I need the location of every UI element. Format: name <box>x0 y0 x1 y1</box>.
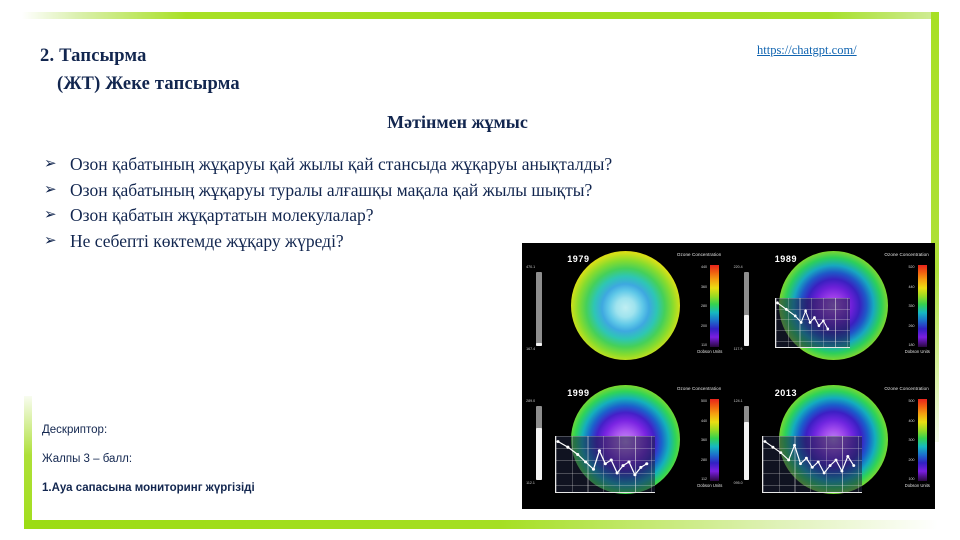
bullet-arrow-icon: ➢ <box>44 203 57 229</box>
year-slider[interactable] <box>536 272 541 346</box>
section-heading: Мәтінмен жұмыс <box>0 112 915 133</box>
panel-year-label: 1979 <box>567 254 589 264</box>
colorbar-tick: 200 <box>908 458 914 462</box>
question-text: Озон қабатын жұқартатын молекулалар? <box>70 205 374 225</box>
page-title-line-2: (ЖТ) Жеке тапсырма <box>57 74 240 95</box>
colorbar-tick: 280 <box>701 458 707 462</box>
colorbar-tick: 200 <box>701 324 707 328</box>
year-slider[interactable] <box>744 406 749 480</box>
slider-max-label: 470.1 <box>526 265 535 269</box>
inset-series-line <box>776 298 850 347</box>
colorbar-tick: 180 <box>908 343 914 347</box>
slider-fill <box>744 422 749 480</box>
colorbar-tick: 112 <box>701 477 707 481</box>
inset-timeseries-plot <box>555 436 655 492</box>
ozone-panel-1979: 1979 470.1 167.4 Ozone Concentration 440… <box>522 243 728 375</box>
list-item: ➢ Озон қабатының жұқаруы қай жылы қай ст… <box>42 152 842 178</box>
colorbar-title: Ozone Concentration <box>884 386 928 391</box>
colorbar-units-label: Dobson Units <box>697 483 722 488</box>
ozone-hole-figure: 1979 470.1 167.4 Ozone Concentration 440… <box>522 243 935 509</box>
descriptor-criterion: 1.Ауа сапасына мониторинг жүргізіді <box>42 482 462 494</box>
globe-map <box>571 251 680 360</box>
colorbar-gradient <box>918 399 927 481</box>
source-url-link[interactable]: https://chatgpt.com/ <box>757 43 857 58</box>
colorbar-tick: 440 <box>701 265 707 269</box>
descriptor-label: Дескриптор: <box>42 424 462 436</box>
colorbar-tick: 300 <box>908 438 914 442</box>
colorbar-tick: 500 <box>701 399 707 403</box>
inset-series-line <box>556 436 655 491</box>
slider-fill <box>536 428 541 480</box>
colorbar-title: Ozone Concentration <box>677 386 721 391</box>
colorbar-tick: 520 <box>908 265 914 269</box>
slider-min-label: 095.0 <box>734 481 743 485</box>
panel-year-label: 1999 <box>567 388 589 398</box>
colorbar-units-label: Dobson Units <box>697 349 722 354</box>
slider-max-label: 220.4 <box>734 265 743 269</box>
bullet-arrow-icon: ➢ <box>44 229 57 255</box>
colorbar-tick: 110 <box>701 343 707 347</box>
slider-fill <box>744 315 749 346</box>
colorbar-ticks: 440 360 280 200 110 <box>701 265 707 347</box>
descriptor-block: Дескриптор: Жалпы 3 – балл: 1.Ауа сапасы… <box>42 424 462 494</box>
list-item: ➢ Озон қабатын жұқартатын молекулалар? <box>42 203 842 229</box>
question-text: Озон қабатының жұқаруы қай жылы қай стан… <box>70 154 612 174</box>
inset-timeseries-plot <box>762 436 862 492</box>
descriptor-total: Жалпы 3 – балл: <box>42 453 462 465</box>
colorbar-tick: 400 <box>908 419 914 423</box>
colorbar-tick: 440 <box>908 285 914 289</box>
colorbar-title: Ozone Concentration <box>677 252 721 257</box>
colorbar-gradient <box>710 265 719 347</box>
inset-timeseries-plot <box>775 298 850 348</box>
slider-min-label: 112.1 <box>526 481 535 485</box>
bullet-arrow-icon: ➢ <box>44 178 57 204</box>
inset-series-line <box>763 436 862 491</box>
year-slider[interactable] <box>744 272 749 346</box>
colorbar-tick: 350 <box>908 304 914 308</box>
ozone-panel-1989: 1989 220.4 117.9 Oz <box>730 243 936 375</box>
colorbar-title: Ozone Concentration <box>884 252 928 257</box>
page-title-line-1: 2. Тапсырма <box>40 46 147 67</box>
ozone-panel-1999: 1999 289.0 112.1 <box>522 377 728 509</box>
colorbar-tick: 100 <box>908 477 914 481</box>
frame-bottom-border <box>24 520 938 529</box>
slider-fill <box>536 343 541 346</box>
colorbar-ticks: 500 400 300 200 100 <box>908 399 914 481</box>
panel-year-label: 1989 <box>775 254 797 264</box>
slider-max-label: 124.1 <box>734 399 743 403</box>
list-item: ➢ Озон қабатының жұқаруы туралы алғашқы … <box>42 178 842 204</box>
slider-min-label: 167.4 <box>526 347 535 351</box>
panel-year-label: 2013 <box>775 388 797 398</box>
slider-max-label: 289.0 <box>526 399 535 403</box>
year-slider[interactable] <box>536 406 541 480</box>
ozone-panel-2013: 2013 124.1 095.0 <box>730 377 936 509</box>
colorbar-tick: 500 <box>908 399 914 403</box>
question-list: ➢ Озон қабатының жұқаруы қай жылы қай ст… <box>42 152 842 254</box>
colorbar-tick: 360 <box>701 438 707 442</box>
colorbar-units-label: Dobson Units <box>905 349 930 354</box>
slider-min-label: 117.9 <box>734 347 743 351</box>
colorbar-units-label: Dobson Units <box>905 483 930 488</box>
colorbar-tick: 440 <box>701 419 707 423</box>
colorbar-tick: 260 <box>908 324 914 328</box>
question-text: Не себепті көктемде жұқару жүреді? <box>70 231 344 251</box>
question-text: Озон қабатының жұқаруы туралы алғашқы ма… <box>70 180 592 200</box>
colorbar-tick: 360 <box>701 285 707 289</box>
colorbar-tick: 280 <box>701 304 707 308</box>
frame-left-border <box>24 396 32 528</box>
colorbar-gradient <box>710 399 719 481</box>
bullet-arrow-icon: ➢ <box>44 152 57 178</box>
colorbar-ticks: 520 440 350 260 180 <box>908 265 914 347</box>
colorbar-gradient <box>918 265 927 347</box>
colorbar-ticks: 500 440 360 280 112 <box>701 399 707 481</box>
frame-top-border <box>22 12 938 19</box>
